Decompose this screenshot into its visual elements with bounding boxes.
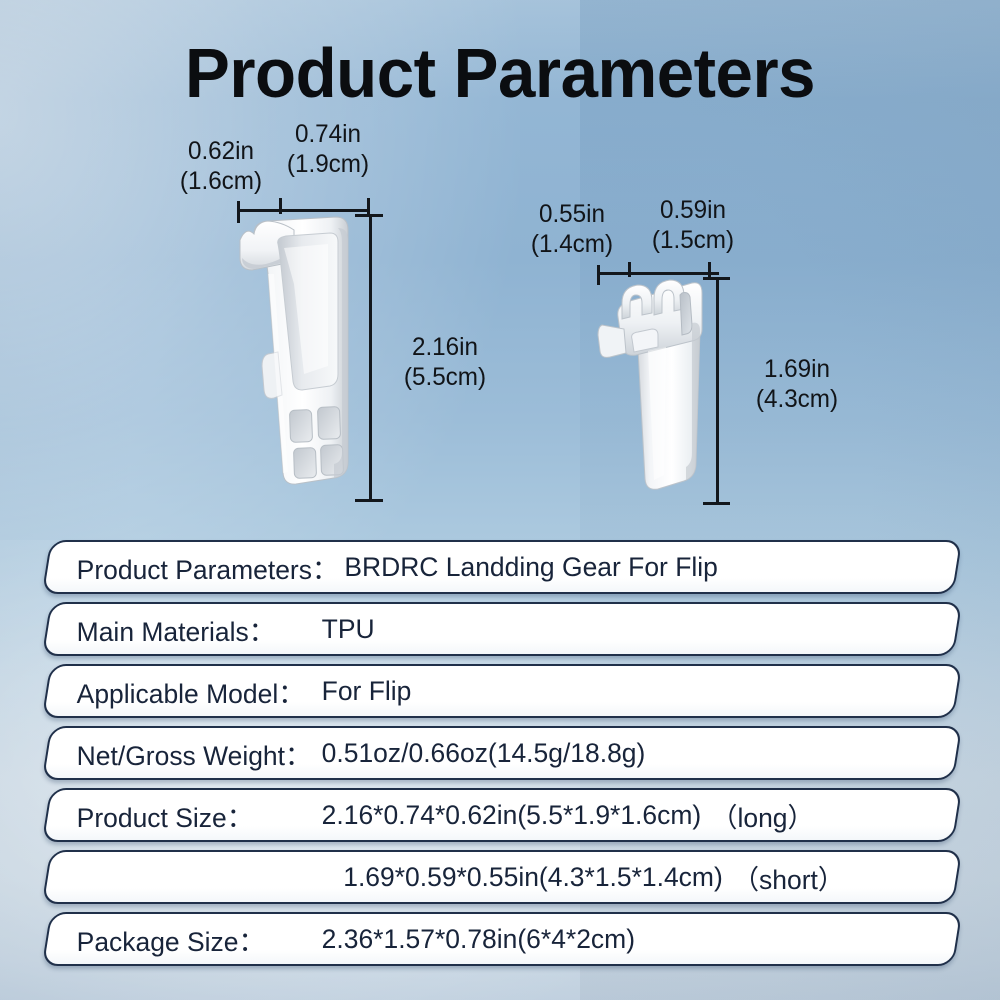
- row-suffix: （short）: [733, 858, 845, 897]
- short-leg-slot: [680, 293, 692, 336]
- row-label: Product Parameters：: [77, 548, 339, 587]
- long-part-dim-tick-mid: [279, 198, 282, 214]
- short-part-dim-tick-right: [708, 262, 711, 277]
- short-part-depth-inch: 0.55in: [518, 200, 627, 230]
- table-row: Main Materials： TPU: [0, 602, 1000, 656]
- row-value: 0.51oz/0.66oz(14.5g/18.8g): [322, 738, 646, 769]
- short-part-depth-label: 0.55in (1.4cm): [518, 200, 627, 259]
- table-row: Product Size： 2.16*0.74*0.62in(5.5*1.9*1…: [0, 788, 1000, 842]
- long-part-dim-tick-right: [367, 198, 370, 214]
- short-part-width-label: 0.59in (1.5cm): [639, 196, 748, 255]
- row-content: 1.69*0.59*0.55in(4.3*1.5*1.4cm) （short）: [55, 850, 949, 904]
- long-part-height-cm: (5.5cm): [387, 363, 503, 393]
- table-row: Net/Gross Weight： 0.51oz/0.66oz(14.5g/18…: [0, 726, 1000, 780]
- long-leg-cutout-2: [317, 407, 340, 440]
- short-part-dim-tick-mid: [628, 262, 631, 277]
- product-parameters-infographic: Product Parameters 0.62in (1.6cm) 0.74in…: [0, 0, 1000, 1000]
- table-row: Package Size： 2.36*1.57*0.78in(6*4*2cm): [0, 912, 1000, 966]
- short-part-height-cm: (4.3cm): [739, 385, 855, 415]
- long-part-width-label: 0.74in (1.9cm): [274, 120, 383, 179]
- short-leg-svg: [596, 277, 718, 509]
- long-leg-cutout-1: [289, 410, 312, 443]
- short-part-horizontal-dimension-line: [597, 272, 719, 275]
- row-label: Applicable Model：: [77, 672, 322, 711]
- row-value: 2.36*1.57*0.78in(6*4*2cm): [322, 924, 635, 955]
- row-value: For Flip: [322, 676, 412, 707]
- row-value: 2.16*0.74*0.62in(5.5*1.9*1.6cm): [322, 800, 702, 831]
- row-content: Net/Gross Weight： 0.51oz/0.66oz(14.5g/18…: [55, 726, 949, 780]
- row-label: Product Size：: [77, 796, 322, 835]
- short-part-width-cm: (1.5cm): [639, 226, 748, 256]
- long-part-depth-inch: 0.62in: [167, 137, 276, 167]
- parameters-table: Product Parameters： BRDRC Landding Gear …: [0, 540, 1000, 974]
- table-row: Applicable Model： For Flip: [0, 664, 1000, 718]
- long-part-width-inch: 0.74in: [274, 120, 383, 150]
- long-part-width-cm: (1.9cm): [274, 150, 383, 180]
- table-row: 1.69*0.59*0.55in(4.3*1.5*1.4cm) （short）: [0, 850, 1000, 904]
- row-label: Net/Gross Weight：: [77, 734, 322, 773]
- long-part-depth-label: 0.62in (1.6cm): [167, 137, 276, 196]
- long-part-vertical-dimension-line: [369, 214, 372, 502]
- long-leg-svg: [238, 214, 368, 506]
- row-content: Applicable Model： For Flip: [55, 664, 949, 718]
- row-suffix: （long）: [711, 796, 814, 835]
- row-content: Main Materials： TPU: [55, 602, 949, 656]
- long-leg-cutout-3: [293, 448, 316, 479]
- long-part-horizontal-dimension-line: [237, 209, 370, 212]
- row-content: Product Parameters： BRDRC Landding Gear …: [55, 540, 949, 594]
- table-row: Product Parameters： BRDRC Landding Gear …: [0, 540, 1000, 594]
- row-value: BRDRC Landding Gear For Flip: [344, 552, 718, 583]
- row-value: 1.69*0.59*0.55in(4.3*1.5*1.4cm): [343, 862, 723, 893]
- row-label: Package Size：: [77, 920, 322, 959]
- short-part-height-inch: 1.69in: [739, 355, 855, 385]
- long-part-depth-cm: (1.6cm): [167, 167, 276, 197]
- long-landing-gear-leg-image: [238, 214, 368, 506]
- row-value: TPU: [322, 614, 375, 645]
- row-content: Product Size： 2.16*0.74*0.62in(5.5*1.9*1…: [55, 788, 949, 842]
- long-part-height-inch: 2.16in: [387, 333, 503, 363]
- short-leg-left-notch: [598, 325, 626, 357]
- short-part-height-label: 1.69in (4.3cm): [739, 355, 855, 414]
- short-part-depth-cm: (1.4cm): [518, 230, 627, 260]
- page-title: Product Parameters: [20, 38, 980, 108]
- long-part-height-label: 2.16in (5.5cm): [387, 333, 503, 392]
- row-label: Main Materials：: [77, 610, 322, 649]
- row-content: Package Size： 2.36*1.57*0.78in(6*4*2cm): [55, 912, 949, 966]
- short-part-width-inch: 0.59in: [639, 196, 748, 226]
- short-landing-gear-leg-image: [596, 277, 718, 509]
